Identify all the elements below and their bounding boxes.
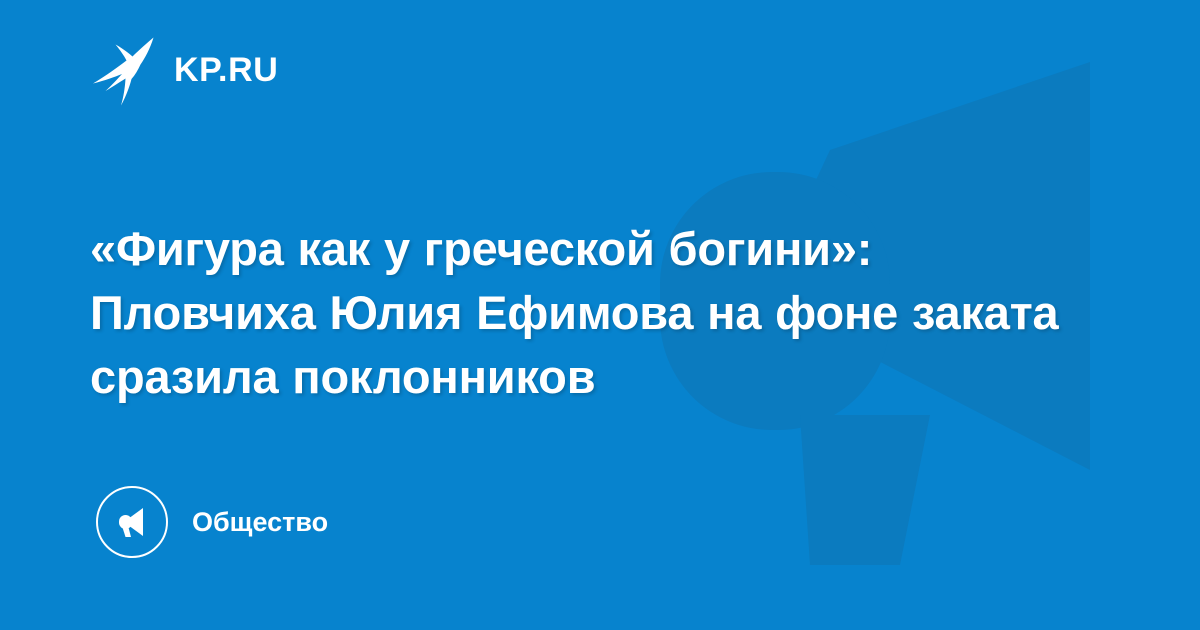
social-share-card: KP.RU «Фигура как у греческой богини»: П… xyxy=(0,0,1200,630)
site-header[interactable]: KP.RU xyxy=(90,34,278,106)
category-badge[interactable]: Общество xyxy=(96,486,328,558)
swallow-bird-icon[interactable] xyxy=(90,34,156,106)
brand-wordmark[interactable]: KP.RU xyxy=(174,53,278,87)
megaphone-icon xyxy=(96,486,168,558)
page-title: «Фигура как у греческой богини»: Пловчих… xyxy=(90,217,1110,409)
category-label: Общество xyxy=(192,509,328,536)
